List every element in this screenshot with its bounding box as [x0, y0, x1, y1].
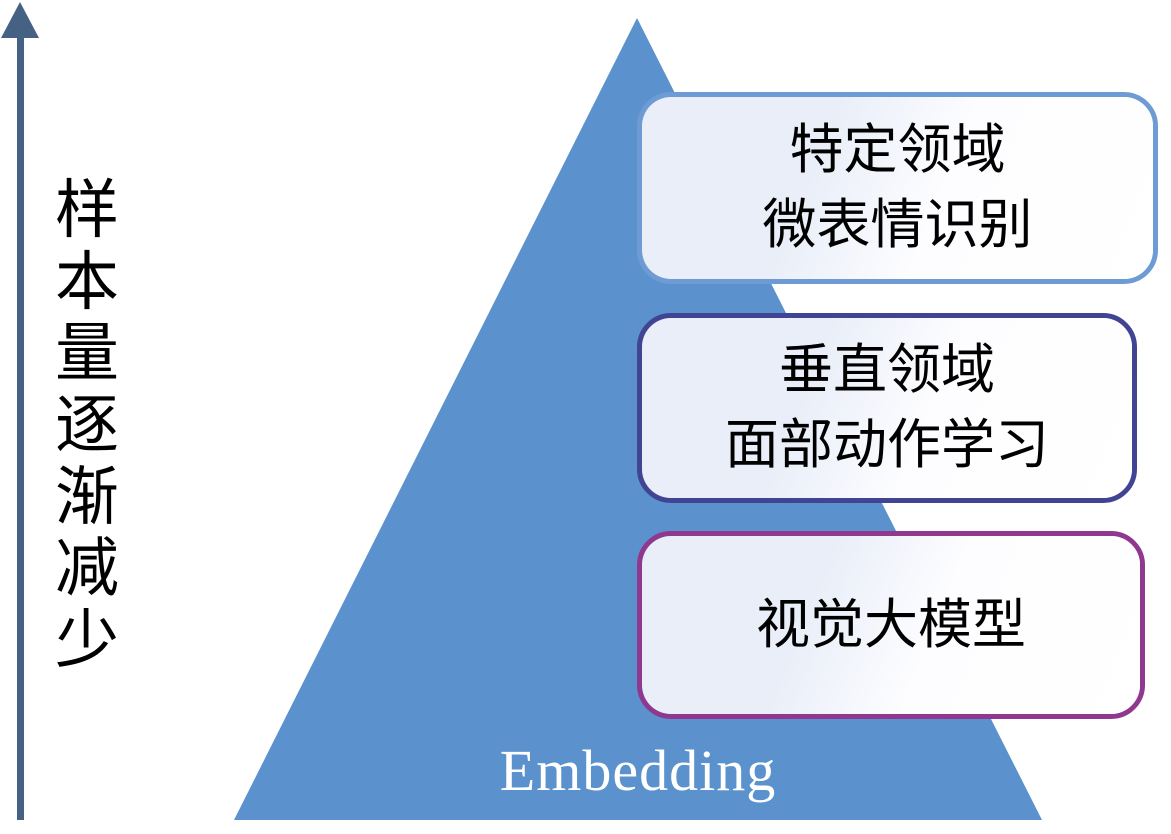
sample-size-arrow [0, 0, 48, 824]
tier-box-vision-foundation-model[interactable]: 视觉大模型 [637, 531, 1145, 719]
tier-label-vision-foundation-model: 视觉大模型 [756, 588, 1026, 663]
tier-box-vertical-domain[interactable]: 垂直领域 面部动作学习 [637, 313, 1137, 503]
pyramid-base-label: Embedding [234, 742, 1042, 800]
arrow-shaft [17, 30, 24, 820]
axis-label-sample-size: 样 本 量 逐 渐 减 少 [44, 175, 130, 677]
diagram-canvas: 样 本 量 逐 渐 减 少 特定领域 微表情识别 垂直领域 面部动作学习 视觉大… [0, 0, 1171, 834]
tier-label-vertical-domain: 垂直领域 面部动作学习 [725, 333, 1049, 482]
tier-box-specific-domain[interactable]: 特定领域 微表情识别 [637, 92, 1158, 284]
tier-label-specific-domain: 特定领域 微表情识别 [763, 113, 1033, 262]
